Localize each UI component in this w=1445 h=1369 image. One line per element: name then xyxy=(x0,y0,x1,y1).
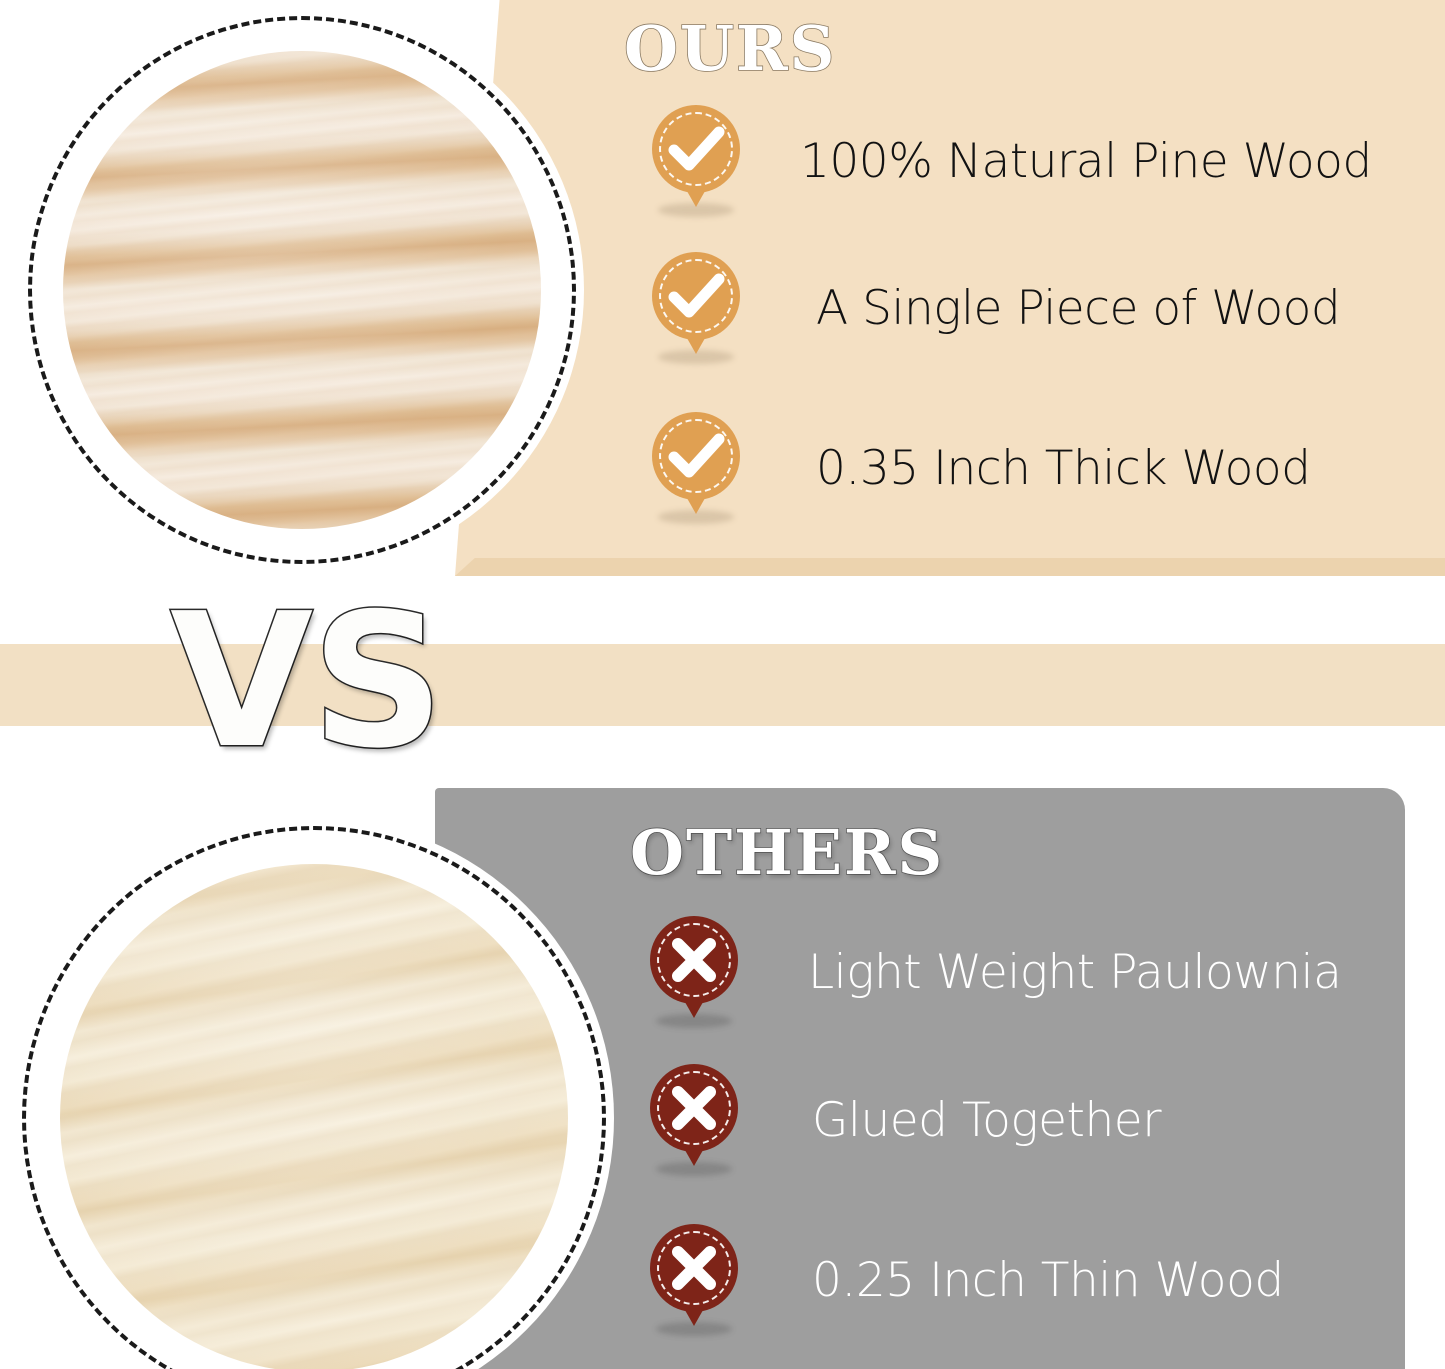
ours-panel-bottom-edge xyxy=(455,558,1445,576)
others-feature-row-1: Light Weight Paulownia xyxy=(646,924,1341,1020)
pine-wood-texture xyxy=(63,51,541,529)
others-feature-row-2: Glued Together xyxy=(646,1072,1161,1168)
check-icon xyxy=(652,105,740,193)
check-badge xyxy=(648,105,744,217)
cross-icon xyxy=(650,916,738,1004)
check-badge xyxy=(648,252,744,364)
others-section-title: OTHERS xyxy=(630,822,944,884)
ours-feature-label-3: 0.35 Inch Thick Wood xyxy=(816,445,1310,492)
ours-feature-row-3: 0.35 Inch Thick Wood xyxy=(648,420,1310,516)
paulownia-wood-texture xyxy=(60,864,568,1369)
check-icon xyxy=(652,252,740,340)
cross-icon xyxy=(650,1224,738,1312)
vs-label: VS xyxy=(170,586,470,776)
others-feature-label-1: Light Weight Paulownia xyxy=(808,949,1341,996)
cross-badge xyxy=(646,1224,742,1336)
others-feature-label-3: 0.25 Inch Thin Wood xyxy=(812,1257,1284,1304)
comparison-infographic: OURS 100% Natural Pine Wood A Single Pie… xyxy=(0,0,1445,1369)
others-feature-label-2: Glued Together xyxy=(812,1097,1161,1144)
cross-badge xyxy=(646,916,742,1028)
cross-icon xyxy=(650,1064,738,1152)
check-icon xyxy=(652,412,740,500)
ours-feature-row-1: 100% Natural Pine Wood xyxy=(648,113,1372,209)
check-badge xyxy=(648,412,744,524)
cross-badge xyxy=(646,1064,742,1176)
others-feature-row-3: 0.25 Inch Thin Wood xyxy=(646,1232,1284,1328)
ours-feature-label-1: 100% Natural Pine Wood xyxy=(800,138,1372,185)
ours-feature-label-2: A Single Piece of Wood xyxy=(816,285,1340,332)
ours-feature-row-2: A Single Piece of Wood xyxy=(648,260,1340,356)
ours-section-title: OURS xyxy=(624,18,836,80)
